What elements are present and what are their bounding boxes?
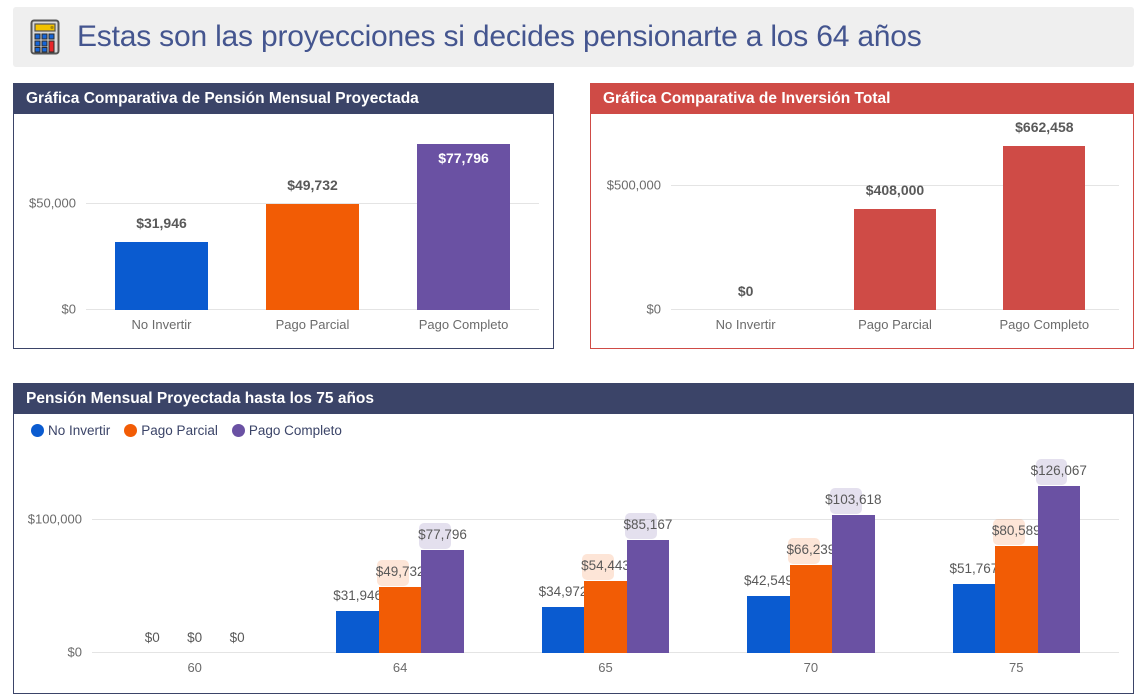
legend-item-label: Pago Completo [249,423,342,438]
x-axis-tick-label: Pago Completo [970,317,1119,332]
bar[interactable] [953,584,995,653]
y-axis-tick-label: $0 [647,302,661,317]
bar-value-label: $126,067 [1021,463,1097,478]
y-axis-tick-label: $0 [62,302,76,317]
panel-left-body: $0$50,000No InvertirPago ParcialPago Com… [13,114,554,349]
legend-item-pago-parcial[interactable]: Pago Parcial [124,423,218,438]
bar[interactable] [584,581,626,653]
legend-item-pago-completo[interactable]: Pago Completo [232,423,342,438]
legend-item-no-invertir[interactable]: No Invertir [31,423,110,438]
panel-right-title: Gráfica Comparativa de Inversión Total [590,83,1134,114]
y-axis-tick-label: $50,000 [29,195,76,210]
x-axis-tick-label: 65 [503,660,708,675]
bar[interactable] [854,209,936,310]
chart-legend: No InvertirPago ParcialPago Completo [14,414,1133,438]
bar-value-label: $85,167 [610,517,686,532]
legend-item-label: Pago Parcial [141,423,218,438]
panel-left-title: Gráfica Comparativa de Pensión Mensual P… [13,83,554,114]
bar[interactable] [995,546,1037,653]
bar[interactable] [542,607,584,653]
x-axis-tick-label: Pago Parcial [820,317,969,332]
x-axis-tick-label: Pago Parcial [237,317,388,332]
x-axis-tick-label: 70 [708,660,913,675]
bar[interactable] [421,550,463,653]
bar[interactable] [747,596,789,653]
panel-inversion-total-comparativa: Gráfica Comparativa de Inversión Total $… [590,83,1134,349]
x-axis-tick-label: No Invertir [671,317,820,332]
bar[interactable] [336,611,378,653]
legend-swatch-icon [124,424,137,437]
panel-right-body: $0$500,000No InvertirPago ParcialPago Co… [590,114,1134,349]
chart-pension-hasta-75[interactable]: $0$100,0006064657075$0$0$0$31,946$49,732… [14,438,1133,693]
x-axis-tick-label: Pago Completo [388,317,539,332]
x-axis-tick-label: 64 [297,660,502,675]
bar[interactable] [832,515,874,653]
bar-value-label: $408,000 [834,182,956,198]
x-axis-tick-label: 60 [92,660,297,675]
bar[interactable] [790,565,832,653]
y-axis-tick-label: $500,000 [607,178,661,193]
page-title: Estas son las proyecciones si decides pe… [77,20,922,54]
bar-value-label: $103,618 [815,492,891,507]
legend-item-label: No Invertir [48,423,110,438]
legend-swatch-icon [31,424,44,437]
y-axis-tick-label: $100,000 [28,512,82,527]
bar-value-label: $662,458 [983,119,1105,135]
page-header: Estas son las proyecciones si decides pe… [13,7,1134,67]
calculator-icon [29,19,61,55]
x-axis-tick-label: No Invertir [86,317,237,332]
bar-value-label: $77,796 [404,527,480,542]
bar-value-label: $0 [685,283,807,299]
gridline [92,519,1119,520]
x-axis-tick-label: 75 [914,660,1119,675]
legend-swatch-icon [232,424,245,437]
bar-value-label: $77,796 [397,150,531,166]
bar[interactable] [1038,486,1080,653]
bar-value-label: $0 [199,630,275,645]
chart-pension-mensual-comparativa[interactable]: $0$50,000No InvertirPago ParcialPago Com… [14,114,553,348]
panel-pension-mensual-comparativa: Gráfica Comparativa de Pensión Mensual P… [13,83,554,349]
bar[interactable] [115,242,209,310]
bar-value-label: $49,732 [246,177,380,193]
bar[interactable] [266,204,360,310]
bar[interactable] [627,540,669,653]
panel-bottom-title: Pensión Mensual Proyectada hasta los 75 … [13,383,1134,414]
bar[interactable] [1003,146,1085,310]
bar-value-label: $31,946 [95,215,229,231]
panel-pension-hasta-75: Pensión Mensual Proyectada hasta los 75 … [13,383,1134,694]
chart-inversion-total-comparativa[interactable]: $0$500,000No InvertirPago ParcialPago Co… [591,114,1133,348]
panel-bottom-body: No InvertirPago ParcialPago Completo $0$… [13,414,1134,694]
y-axis-tick-label: $0 [68,645,82,660]
bar[interactable] [417,144,511,310]
bar[interactable] [379,587,421,653]
